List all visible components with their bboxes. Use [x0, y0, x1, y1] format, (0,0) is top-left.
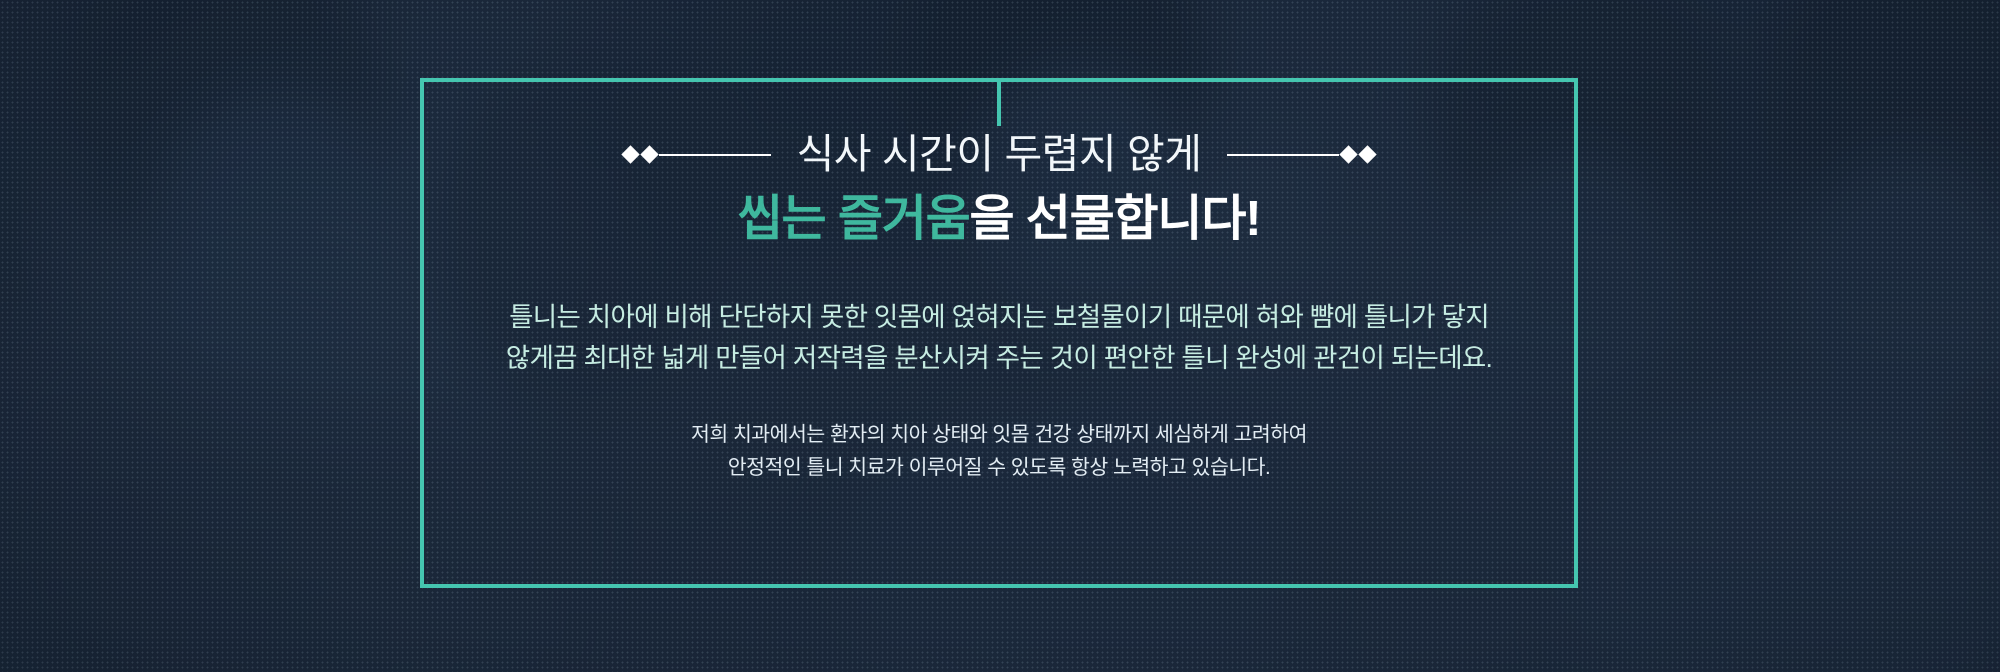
headline-plain-text: 을 선물합니다! [970, 192, 1261, 246]
body-paragraph: 틀니는 치아에 비해 단단하지 못한 잇몸에 얹혀지는 보철물이기 때문에 혀와… [506, 297, 1492, 378]
right-rule-diamond-ornament [1227, 148, 1377, 161]
sub-paragraph-line-1: 저희 치과에서는 환자의 치아 상태와 잇몸 건강 상태까지 세심하게 고려하여 [691, 418, 1307, 451]
diamond-icon [621, 145, 639, 163]
diamond-icon [1359, 145, 1377, 163]
eyebrow-text: 식사 시간이 두렵지 않게 [797, 134, 1202, 175]
left-diamond-rule-ornament [621, 148, 771, 161]
rule-line [1227, 154, 1339, 156]
rule-line [659, 154, 771, 156]
sub-paragraph-line-2: 안정적인 틀니 치료가 이루어질 수 있도록 항상 노력하고 있습니다. [691, 451, 1307, 484]
sub-paragraph: 저희 치과에서는 환자의 치아 상태와 잇몸 건강 상태까지 세심하게 고려하여… [691, 418, 1307, 484]
banner-content: 식사 시간이 두렵지 않게 씹는 즐거움을 선물합니다! 틀니는 치아에 비해 … [420, 78, 1578, 588]
body-paragraph-line-1: 틀니는 치아에 비해 단단하지 못한 잇몸에 얹혀지는 보철물이기 때문에 혀와… [506, 297, 1492, 337]
headline-accent-text: 씹는 즐거움 [738, 192, 970, 246]
banner-stage: 식사 시간이 두렵지 않게 씹는 즐거움을 선물합니다! 틀니는 치아에 비해 … [0, 0, 2000, 672]
body-paragraph-line-2: 않게끔 최대한 넓게 만들어 저작력을 분산시켜 주는 것이 편안한 틀니 완성… [506, 338, 1492, 378]
diamond-icon [1340, 145, 1358, 163]
headline: 씹는 즐거움을 선물합니다! [738, 191, 1261, 247]
eyebrow-row: 식사 시간이 두렵지 않게 [420, 134, 1578, 175]
diamond-icon [640, 145, 658, 163]
